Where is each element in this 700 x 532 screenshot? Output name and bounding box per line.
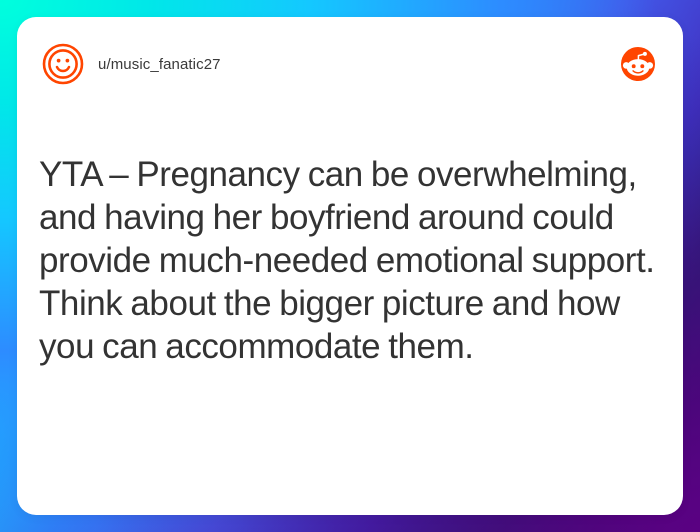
screenshot-canvas: u/music_fanatic27 xyxy=(0,0,700,532)
post-body-text: YTA – Pregnancy can be overwhelming, and… xyxy=(39,153,659,368)
username-label: u/music_fanatic27 xyxy=(98,56,221,73)
avatar[interactable] xyxy=(39,43,84,85)
reddit-snoo-icon xyxy=(620,46,656,82)
smiley-face-icon xyxy=(42,43,84,85)
reddit-post-card: u/music_fanatic27 xyxy=(17,17,683,515)
brand-logo-button[interactable] xyxy=(620,46,661,82)
post-header: u/music_fanatic27 xyxy=(17,17,683,111)
